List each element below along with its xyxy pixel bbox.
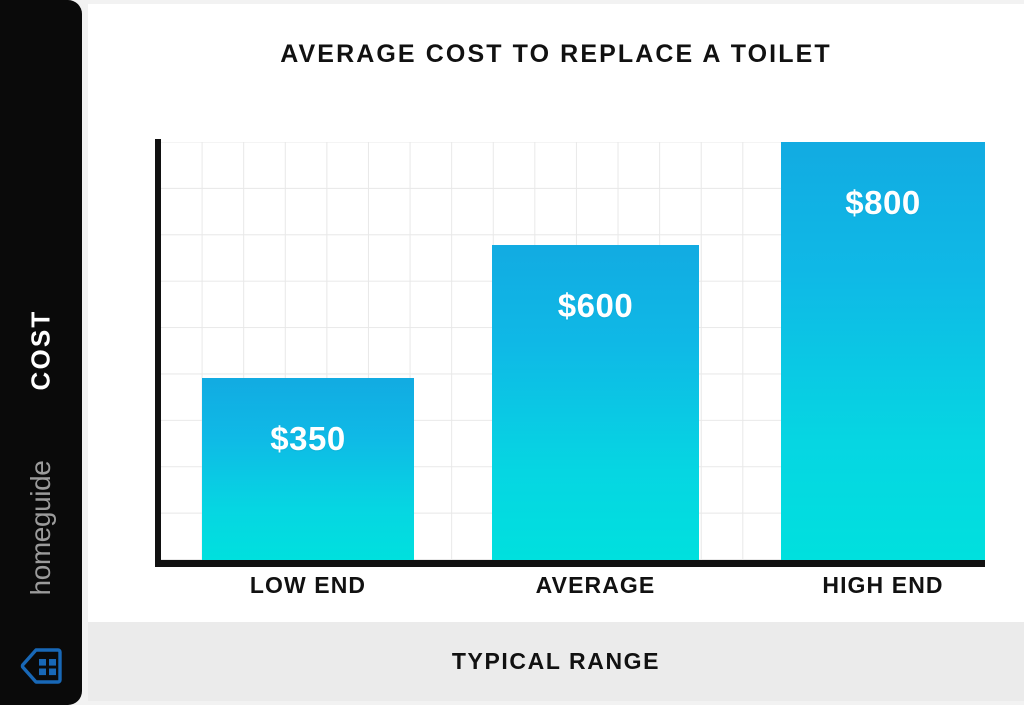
x-axis-caption: TYPICAL RANGE — [452, 648, 660, 675]
bar-value-low-end: $350 — [202, 420, 414, 458]
infographic-canvas: COST homeguide AVERAGE COST TO REPLACE A… — [0, 0, 1024, 705]
left-rail: COST homeguide — [0, 0, 82, 705]
category-label-low-end: LOW END — [202, 572, 414, 599]
plot-area: $350 $600 $800 — [155, 142, 985, 560]
category-label-high-end: HIGH END — [781, 572, 985, 599]
bar-high-end[interactable]: $800 — [781, 142, 985, 560]
bar-average[interactable]: $600 — [492, 245, 699, 560]
footer-band: TYPICAL RANGE — [88, 622, 1024, 701]
bar-value-average: $600 — [492, 287, 699, 325]
y-axis-label-text: COST — [26, 309, 57, 390]
bar-value-high-end: $800 — [781, 184, 985, 222]
chart-card: AVERAGE COST TO REPLACE A TOILET $350 $6… — [88, 4, 1024, 701]
y-axis-label: COST — [0, 0, 82, 705]
category-labels: LOW END AVERAGE HIGH END — [155, 572, 985, 612]
category-label-average: AVERAGE — [492, 572, 699, 599]
bar-series: $350 $600 $800 — [160, 142, 985, 560]
x-axis-line — [155, 560, 985, 567]
homeguide-house-grid-icon — [20, 646, 64, 686]
bar-low-end[interactable]: $350 — [202, 378, 414, 560]
chart-title: AVERAGE COST TO REPLACE A TOILET — [88, 40, 1024, 69]
